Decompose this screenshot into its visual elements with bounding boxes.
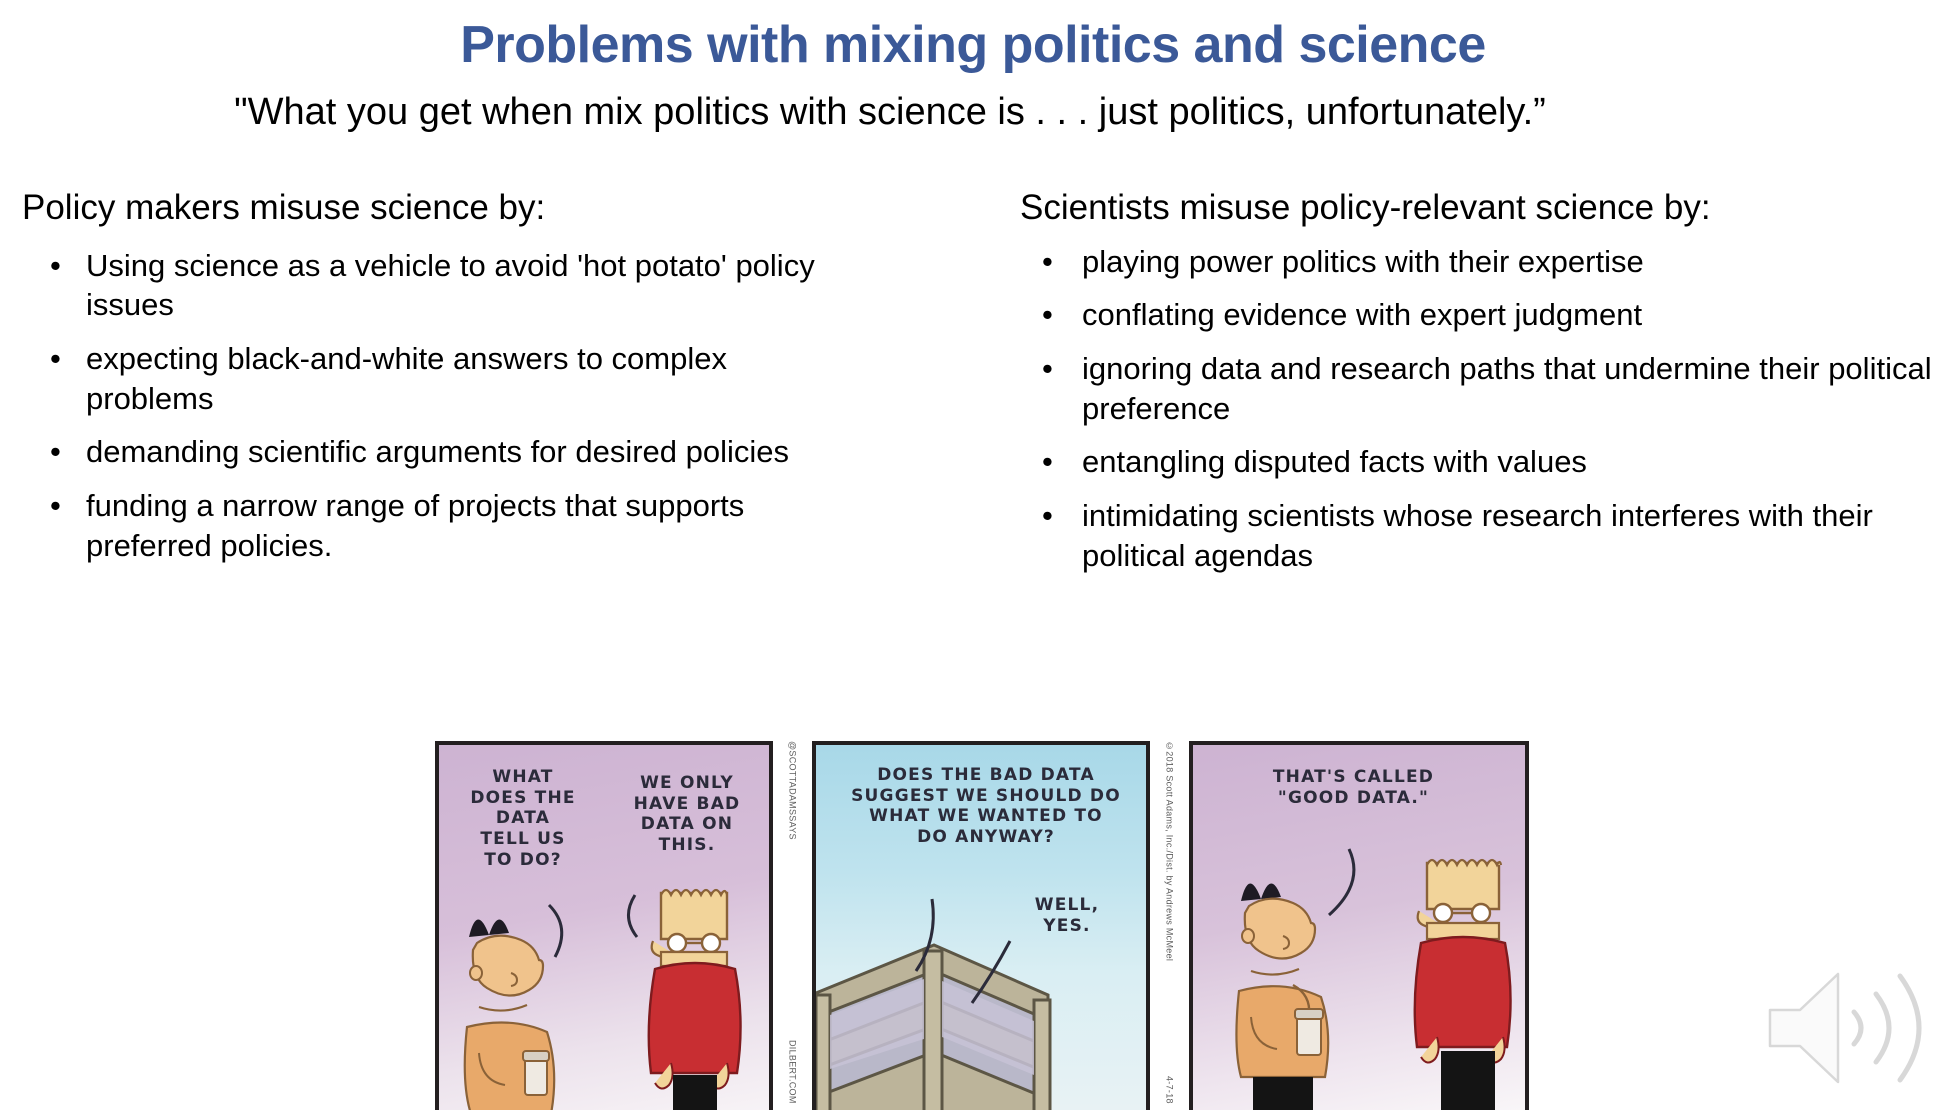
slide-canvas: Problems with mixing politics and scienc… [0, 0, 1946, 1110]
list-item: • conflating evidence with expert judgme… [1020, 295, 1940, 335]
list-item-label: demanding scientific arguments for desir… [86, 434, 789, 469]
right-column: Scientists misuse policy-relevant scienc… [1020, 186, 1940, 589]
bullet-marker-icon: • [1042, 349, 1053, 389]
comic-panel-2-artwork [816, 745, 1150, 1110]
comic-panel-1-artwork [439, 745, 773, 1110]
left-bullet-list: • Using science as a vehicle to avoid 'h… [22, 246, 832, 566]
comic-date-stamp: 4-7-18 [1165, 1076, 1175, 1104]
subtitle-quote: "What you get when mix politics with sci… [0, 90, 1780, 136]
bullet-marker-icon: • [1042, 295, 1053, 335]
comic-panel-2: DOES THE BAD DATA SUGGEST WE SHOULD DO W… [812, 741, 1150, 1110]
speaker-volume-icon[interactable] [1752, 952, 1930, 1104]
list-item: • expecting black-and-white answers to c… [22, 339, 832, 418]
comic-gutter-1: @SCOTTADAMSSAYS DILBERT.COM [773, 741, 812, 1110]
list-item: • ignoring data and research paths that … [1020, 349, 1940, 428]
left-column: Policy makers misuse science by: • Using… [22, 186, 832, 579]
list-item-label: ignoring data and research paths that un… [1082, 351, 1932, 426]
comic-panel-1: WHAT DOES THE DATA TELL US TO DO? WE ONL… [435, 741, 773, 1110]
right-bullet-list: • playing power politics with their expe… [1020, 242, 1940, 576]
list-item-label: intimidating scientists whose research i… [1082, 498, 1873, 573]
list-item: • demanding scientific arguments for des… [22, 432, 832, 472]
comic-copyright-notice: ©2018 Scott Adams, Inc./Dist. by Andrews… [1165, 741, 1175, 961]
list-item-label: entangling disputed facts with values [1082, 444, 1587, 479]
bullet-marker-icon: • [50, 432, 61, 472]
bullet-marker-icon: • [50, 339, 61, 379]
comic-panel-3: THAT'S CALLED "GOOD DATA." [1189, 741, 1529, 1110]
list-item: • playing power politics with their expe… [1020, 242, 1940, 282]
page-title: Problems with mixing politics and scienc… [0, 16, 1946, 76]
list-item-label: funding a narrow range of projects that … [86, 488, 744, 563]
list-item-label: playing power politics with their expert… [1082, 244, 1644, 279]
right-column-heading: Scientists misuse policy-relevant scienc… [1020, 186, 1940, 230]
list-item: • intimidating scientists whose research… [1020, 496, 1940, 575]
comic-gutter-2: ©2018 Scott Adams, Inc./Dist. by Andrews… [1150, 741, 1189, 1110]
bullet-marker-icon: • [50, 486, 61, 526]
left-column-heading: Policy makers misuse science by: [22, 186, 832, 230]
comic-credit-handle: @SCOTTADAMSSAYS [788, 741, 798, 840]
bullet-marker-icon: • [1042, 242, 1053, 282]
list-item-label: Using science as a vehicle to avoid 'hot… [86, 248, 815, 323]
bullet-marker-icon: • [50, 246, 61, 286]
bullet-marker-icon: • [1042, 442, 1053, 482]
comic-panel-3-artwork [1193, 745, 1529, 1110]
comic-credit-site: DILBERT.COM [788, 1040, 798, 1104]
list-item-label: expecting black-and-white answers to com… [86, 341, 727, 416]
list-item: • Using science as a vehicle to avoid 'h… [22, 246, 832, 325]
bullet-marker-icon: • [1042, 496, 1053, 536]
list-item-label: conflating evidence with expert judgment [1082, 297, 1642, 332]
list-item: • funding a narrow range of projects tha… [22, 486, 832, 565]
list-item: • entangling disputed facts with values [1020, 442, 1940, 482]
dilbert-comic-strip: WHAT DOES THE DATA TELL US TO DO? WE ONL… [435, 741, 1529, 1110]
